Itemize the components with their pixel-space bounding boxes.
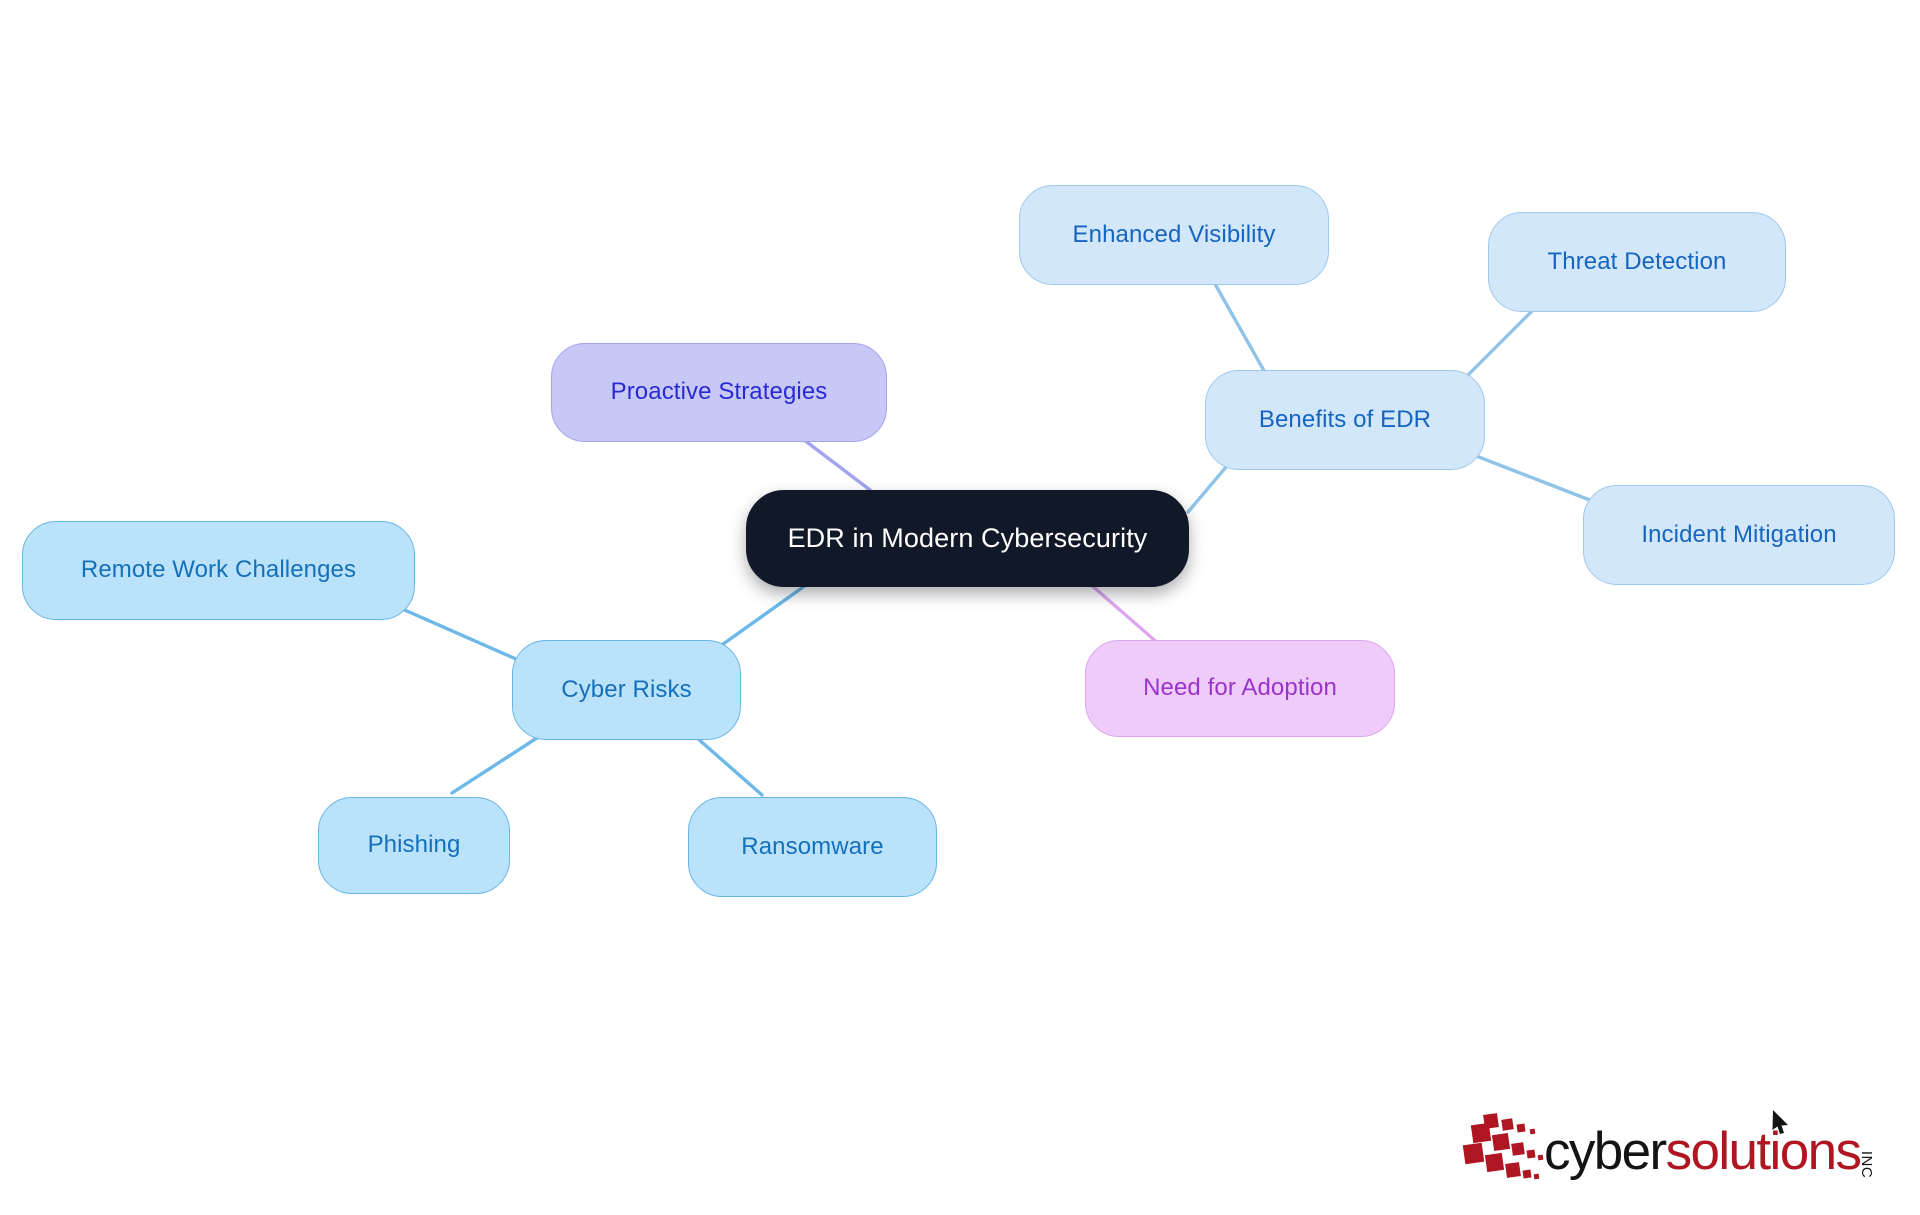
node-label: Threat Detection: [1547, 249, 1726, 275]
node-remote-work-challenges[interactable]: Remote Work Challenges: [22, 521, 415, 620]
node-label: Ransomware: [741, 834, 883, 860]
node-label: Enhanced Visibility: [1073, 222, 1276, 248]
node-ransomware[interactable]: Ransomware: [688, 797, 937, 897]
node-label: EDR in Modern Cybersecurity: [788, 524, 1148, 554]
edge-root-cyber-risks: [712, 585, 806, 652]
node-enhanced-visibility[interactable]: Enhanced Visibility: [1019, 185, 1329, 285]
node-threat-detection[interactable]: Threat Detection: [1488, 212, 1786, 312]
node-root-edr-in-modern-cybersecurity[interactable]: EDR in Modern Cybersecurity: [746, 490, 1189, 587]
node-label: Incident Mitigation: [1641, 522, 1836, 548]
node-proactive-strategies[interactable]: Proactive Strategies: [551, 343, 887, 442]
node-label: Proactive Strategies: [611, 379, 828, 405]
node-label: Phishing: [368, 832, 461, 858]
edge-benefits-incident-mitigation: [1466, 452, 1600, 504]
pixel-squares-icon: [1462, 1116, 1544, 1184]
node-label: Cyber Risks: [561, 677, 691, 703]
node-benefits-of-edr[interactable]: Benefits of EDR: [1205, 370, 1485, 470]
node-incident-mitigation[interactable]: Incident Mitigation: [1583, 485, 1895, 585]
logo-word-cyber: cyber: [1544, 1122, 1666, 1181]
node-label: Benefits of EDR: [1259, 407, 1431, 433]
node-cyber-risks[interactable]: Cyber Risks: [512, 640, 741, 740]
logo-wordmark: cybersolutions INC: [1544, 1125, 1860, 1184]
edge-cyber-risks-remote-work-challenges: [400, 608, 516, 659]
logo-word-solutions: solutions: [1666, 1122, 1861, 1181]
logo-suffix-inc: INC: [1859, 1151, 1874, 1178]
node-phishing[interactable]: Phishing: [318, 797, 510, 894]
mindmap-canvas: Enhanced Visibility Threat Detection Ben…: [0, 0, 1920, 1215]
node-label: Remote Work Challenges: [81, 557, 356, 583]
edge-root-need-for-adoption: [1082, 577, 1160, 645]
cursor-arrow-icon: [1770, 1109, 1792, 1135]
node-label: Need for Adoption: [1143, 675, 1337, 701]
node-need-for-adoption[interactable]: Need for Adoption: [1085, 640, 1395, 737]
cybersolutions-inc-logo: cybersolutions INC: [1462, 1112, 1882, 1184]
